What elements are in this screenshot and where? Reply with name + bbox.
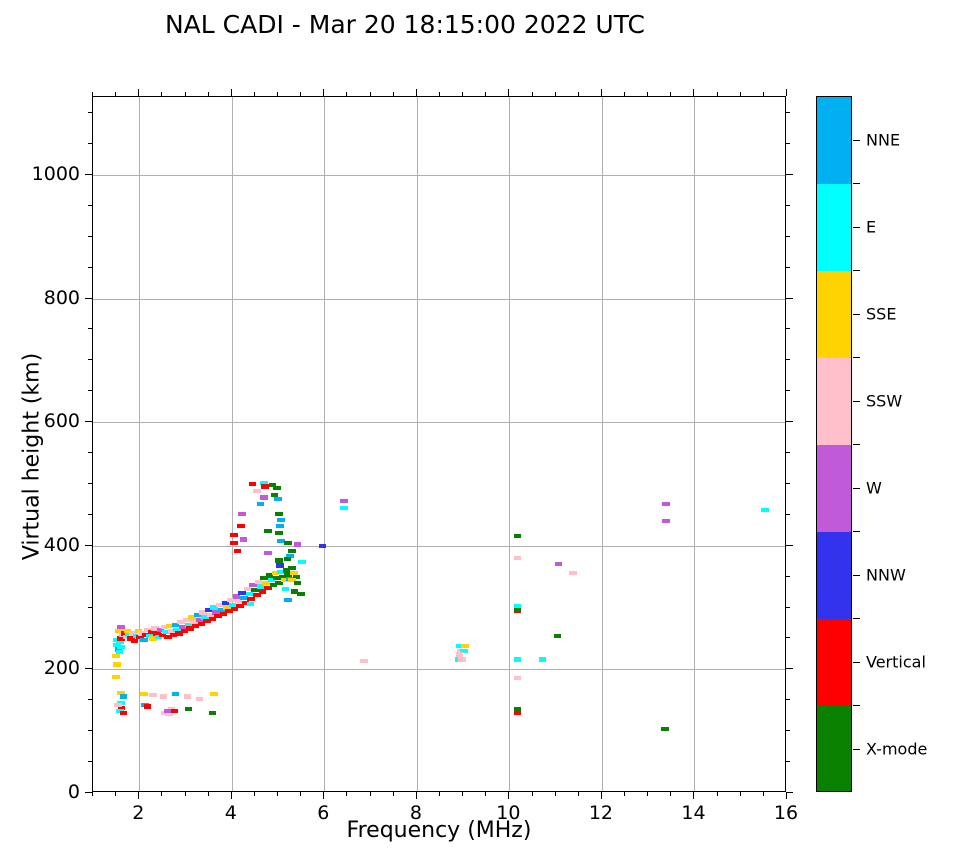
x-tick-minor: [717, 792, 718, 796]
y-tick-right: [786, 205, 790, 206]
echo-marker: [257, 584, 265, 588]
echo-marker: [261, 484, 269, 488]
x-tick-minor: [532, 792, 533, 796]
colorbar-segment-nnw: [817, 532, 851, 620]
x-tick-top: [92, 92, 93, 96]
echo-marker: [458, 657, 466, 661]
x-tick-top: [185, 92, 186, 96]
echo-marker: [140, 638, 148, 642]
echo-marker: [514, 676, 522, 680]
x-tick-top: [300, 92, 301, 96]
echo-marker: [112, 675, 120, 679]
echo-marker: [298, 560, 306, 564]
x-tick-top: [578, 92, 579, 96]
y-tick-label: 0: [68, 781, 80, 803]
y-tick-minor: [88, 359, 92, 360]
colorbar-label-vertical: Vertical: [866, 652, 926, 671]
x-tick-major: [601, 792, 602, 799]
colorbar-segment-nne: [817, 97, 851, 185]
y-tick-minor: [88, 483, 92, 484]
y-axis-title: Virtual height (km): [20, 277, 45, 637]
echo-marker: [253, 593, 261, 597]
echo-marker: [246, 592, 254, 596]
echo-marker: [360, 659, 368, 663]
y-tick-right: [786, 576, 790, 577]
x-tick-top: [254, 92, 255, 96]
echo-marker: [297, 592, 305, 596]
colorbar-tick: [853, 401, 860, 402]
colorbar-label-w: W: [866, 478, 882, 497]
echo-marker: [539, 657, 547, 661]
x-tick-minor: [393, 792, 394, 796]
colorbar-segment-x-mode: [817, 706, 851, 792]
echo-marker: [284, 557, 292, 561]
echo-marker: [257, 502, 265, 506]
x-tick-top: [670, 92, 671, 96]
x-tick-minor: [254, 792, 255, 796]
x-tick-top: [416, 89, 417, 96]
x-tick-top: [231, 89, 232, 96]
x-tick-minor: [462, 792, 463, 796]
x-tick-top: [277, 92, 278, 96]
x-tick-minor: [647, 792, 648, 796]
echo-marker: [259, 589, 267, 593]
y-tick-minor: [88, 761, 92, 762]
x-tick-minor: [185, 792, 186, 796]
y-tick-right: [786, 483, 790, 484]
y-tick-minor: [88, 514, 92, 515]
y-tick-right: [786, 699, 790, 700]
echo-marker: [233, 594, 241, 598]
echo-marker: [240, 596, 248, 600]
x-tick-minor: [208, 792, 209, 796]
colorbar-label-nne: NNE: [866, 130, 900, 149]
echo-marker: [275, 512, 283, 516]
echo-marker: [249, 583, 257, 587]
echo-marker: [116, 650, 124, 654]
echo-marker: [113, 662, 121, 666]
x-tick-top: [601, 89, 602, 96]
y-tick-right: [786, 730, 790, 731]
echo-marker: [662, 519, 670, 523]
y-tick-right: [786, 514, 790, 515]
echo-marker: [247, 602, 255, 606]
y-tick-right: [786, 668, 793, 669]
y-tick-label: 200: [44, 657, 80, 679]
echo-marker: [276, 563, 284, 567]
x-tick-minor: [370, 792, 371, 796]
echo-marker: [120, 711, 128, 715]
echo-marker: [275, 531, 283, 535]
y-tick-minor: [88, 205, 92, 206]
echo-marker: [255, 580, 263, 584]
x-tick-top: [555, 92, 556, 96]
y-tick-minor: [88, 576, 92, 577]
echo-marker: [238, 591, 246, 595]
echo-marker: [185, 707, 193, 711]
colorbar-segment-sse: [817, 271, 851, 359]
y-tick-major: [85, 298, 92, 299]
x-tick-minor: [277, 792, 278, 796]
ionogram-figure: NAL CADI - Mar 20 18:15:00 2022 UTC 2468…: [0, 0, 958, 857]
colorbar-segment-ssw: [817, 358, 851, 446]
colorbar-tick: [853, 749, 860, 750]
x-tick-major: [786, 792, 787, 799]
colorbar-tick: [853, 488, 860, 489]
colorbar-label-sse: SSE: [866, 304, 896, 323]
x-tick-top: [208, 92, 209, 96]
echo-marker: [149, 693, 157, 697]
echo-marker: [277, 518, 285, 522]
echo-marker: [251, 588, 259, 592]
y-tick-right: [786, 761, 790, 762]
echo-marker: [227, 598, 235, 602]
x-tick-top: [138, 89, 139, 96]
x-tick-top: [508, 89, 509, 96]
echo-marker: [761, 508, 769, 512]
x-tick-top: [323, 89, 324, 96]
y-tick-major: [85, 668, 92, 669]
y-tick-minor: [88, 607, 92, 608]
y-tick-right: [786, 359, 790, 360]
x-tick-top: [647, 92, 648, 96]
y-tick-right: [786, 452, 790, 453]
x-tick-minor: [92, 792, 93, 796]
echo-marker: [114, 703, 122, 707]
echo-marker: [275, 558, 283, 562]
x-tick-minor: [439, 792, 440, 796]
y-tick-minor: [88, 699, 92, 700]
echo-marker: [196, 697, 204, 701]
y-tick-right: [786, 390, 790, 391]
echo-marker: [273, 486, 281, 490]
y-tick-major: [85, 421, 92, 422]
x-tick-minor: [555, 792, 556, 796]
colorbar-tick: [853, 227, 860, 228]
echo-marker: [140, 692, 148, 696]
y-tick-minor: [88, 730, 92, 731]
echo-marker: [131, 639, 139, 643]
echo-marker: [172, 692, 180, 696]
x-tick-top: [740, 92, 741, 96]
x-tick-top: [115, 92, 116, 96]
x-tick-top: [161, 92, 162, 96]
colorbar-label-nnw: NNW: [866, 565, 906, 584]
echo-marker: [294, 581, 302, 585]
figure-title: NAL CADI - Mar 20 18:15:00 2022 UTC: [0, 10, 810, 39]
x-tick-top: [346, 92, 347, 96]
echo-marker: [230, 533, 238, 537]
x-tick-top: [786, 89, 787, 96]
colorbar-boundary-tick: [853, 357, 860, 358]
echo-marker: [274, 497, 282, 501]
y-tick-minor: [88, 328, 92, 329]
y-tick-right: [786, 792, 793, 793]
x-tick-major: [323, 792, 324, 799]
echo-marker: [514, 657, 522, 661]
colorbar-boundary-tick: [853, 270, 860, 271]
x-tick-top: [717, 92, 718, 96]
colorbar-segment-e: [817, 184, 851, 272]
echo-marker: [144, 704, 152, 708]
x-tick-minor: [578, 792, 579, 796]
y-tick-right: [786, 112, 790, 113]
colorbar-label-e: E: [866, 217, 876, 236]
echo-marker: [319, 544, 327, 548]
x-tick-major: [508, 792, 509, 799]
x-tick-top: [462, 92, 463, 96]
echo-marker: [247, 597, 255, 601]
x-tick-minor: [740, 792, 741, 796]
x-tick-minor: [624, 792, 625, 796]
y-tick-minor: [88, 236, 92, 237]
y-tick-minor: [88, 267, 92, 268]
x-tick-major: [138, 792, 139, 799]
echo-marker: [288, 566, 296, 570]
y-tick-right: [786, 143, 790, 144]
echo-marker: [340, 499, 348, 503]
y-tick-right: [786, 607, 790, 608]
echo-marker: [237, 524, 245, 528]
colorbar-boundary-tick: [853, 705, 860, 706]
echo-marker: [236, 604, 244, 608]
echo-marker: [244, 587, 252, 591]
echo-marker: [569, 571, 577, 575]
echo-marker: [171, 709, 179, 713]
echo-marker: [116, 640, 124, 644]
echo-marker: [184, 694, 192, 698]
y-tick-right: [786, 267, 790, 268]
colorbar-tick: [853, 314, 860, 315]
y-tick-major: [85, 174, 92, 175]
colorbar-label-x-mode: X-mode: [866, 739, 927, 758]
y-tick-minor: [88, 390, 92, 391]
echo-marker: [160, 694, 168, 698]
plot-area: [92, 96, 786, 792]
y-tick-minor: [88, 637, 92, 638]
x-tick-top: [485, 92, 486, 96]
colorbar-boundary-tick: [853, 531, 860, 532]
y-tick-right: [786, 637, 790, 638]
y-tick-right: [786, 236, 790, 237]
echo-marker: [253, 489, 261, 493]
colorbar-tick: [853, 662, 860, 663]
echo-marker: [240, 537, 248, 541]
echo-marker: [294, 542, 302, 546]
x-tick-major: [231, 792, 232, 799]
x-tick-top: [624, 92, 625, 96]
echo-marker: [230, 541, 238, 545]
colorbar-label-ssw: SSW: [866, 391, 902, 410]
x-tick-minor: [161, 792, 162, 796]
echo-marker: [276, 524, 284, 528]
echo-marker: [284, 541, 292, 545]
y-tick-label: 600: [44, 410, 80, 432]
x-tick-minor: [670, 792, 671, 796]
x-tick-major: [693, 792, 694, 799]
y-tick-right: [786, 298, 793, 299]
x-tick-top: [393, 92, 394, 96]
x-tick-major: [416, 792, 417, 799]
echo-marker: [238, 512, 246, 516]
echo-marker: [112, 654, 120, 658]
colorbar-segment-w: [817, 445, 851, 533]
echo-marker: [234, 549, 242, 553]
echo-marker: [514, 608, 522, 612]
y-tick-major: [85, 792, 92, 793]
echo-marker: [264, 551, 272, 555]
echo-marker: [555, 562, 563, 566]
y-tick-minor: [88, 452, 92, 453]
y-tick-minor: [88, 143, 92, 144]
x-tick-minor: [346, 792, 347, 796]
echo-marker: [277, 539, 285, 543]
echo-marker: [662, 502, 670, 506]
y-tick-right: [786, 174, 793, 175]
colorbar-boundary-tick: [853, 618, 860, 619]
echo-marker: [117, 645, 125, 649]
echo-marker: [288, 549, 296, 553]
echo-marker: [249, 482, 257, 486]
colorbar-tick: [853, 140, 860, 141]
echo-marker: [340, 506, 348, 510]
echo-marker: [554, 634, 562, 638]
x-tick-minor: [300, 792, 301, 796]
y-tick-right: [786, 328, 790, 329]
x-tick-minor: [763, 792, 764, 796]
echo-marker: [260, 495, 268, 499]
echo-marker: [461, 644, 469, 648]
echo-marker: [282, 587, 290, 591]
echo-scatter-layer: [93, 97, 785, 791]
x-tick-top: [370, 92, 371, 96]
echo-marker: [284, 598, 292, 602]
echo-marker: [210, 692, 218, 696]
echo-marker: [514, 556, 522, 560]
echo-marker: [120, 694, 128, 698]
x-tick-top: [763, 92, 764, 96]
y-tick-label: 400: [44, 534, 80, 556]
x-tick-top: [439, 92, 440, 96]
y-tick-label: 1000: [32, 163, 80, 185]
y-tick-right: [786, 421, 793, 422]
echo-marker: [235, 599, 243, 603]
echo-marker: [209, 711, 217, 715]
x-tick-top: [693, 89, 694, 96]
x-axis-title: Frequency (MHz): [92, 818, 786, 843]
y-tick-minor: [88, 112, 92, 113]
colorbar-boundary-tick: [853, 444, 860, 445]
colorbar-segment-vertical: [817, 619, 851, 707]
colorbar-tick: [853, 575, 860, 576]
colorbar: [816, 96, 852, 792]
echo-marker: [456, 652, 464, 656]
echo-marker: [264, 529, 272, 533]
x-tick-minor: [115, 792, 116, 796]
y-tick-label: 800: [44, 287, 80, 309]
echo-marker: [514, 711, 522, 715]
x-tick-top: [532, 92, 533, 96]
y-tick-right: [786, 545, 793, 546]
y-tick-major: [85, 545, 92, 546]
echo-marker: [661, 727, 669, 731]
x-tick-minor: [485, 792, 486, 796]
echo-marker: [514, 534, 522, 538]
colorbar-boundary-tick: [853, 183, 860, 184]
